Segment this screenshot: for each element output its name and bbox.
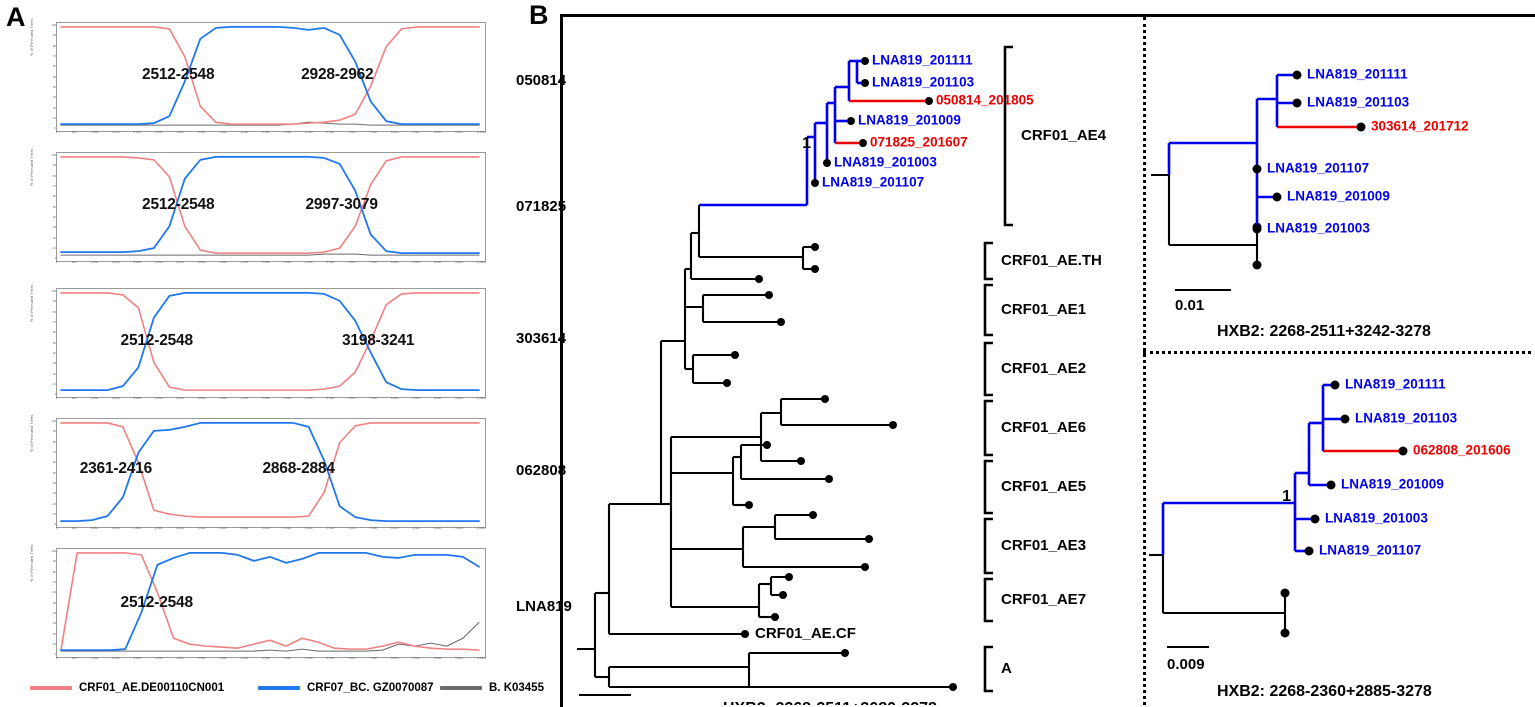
taxon-lna819-201009-bottomright: LNA819_201009 (1341, 477, 1444, 492)
bootscan-y-axis-label: % of Permuted Trees (30, 284, 34, 322)
x-tick: 1,0000 (477, 131, 486, 140)
x-tick: 4,500 (241, 261, 249, 270)
taxon-lna819-201009-topright: LNA819_201009 (1287, 189, 1390, 204)
x-tick: 8,500 (412, 131, 420, 140)
x-tick: 1,0000 (477, 261, 486, 270)
x-tick: 3,500 (198, 131, 206, 140)
x-tick: 9,500 (455, 527, 463, 536)
x-tick: 4,000 (219, 131, 227, 140)
x-tick: 7,000 (348, 657, 356, 666)
x-tick: 6,000 (305, 397, 313, 406)
x-tick: 1,500 (112, 397, 120, 406)
x-tick: 4,500 (241, 657, 249, 666)
x-tick: 5,000 (262, 131, 270, 140)
taxon-lna819-201107-main: LNA819_201107 (822, 175, 924, 190)
x-tick: 8,000 (391, 397, 399, 406)
x-tick: 6,000 (305, 527, 313, 536)
bootscan-x-ticks: 05001,0001,5002,0002,5003,0003,5004,0004… (56, 261, 486, 270)
x-tick: 0 (56, 131, 58, 140)
x-tick: 5,000 (262, 527, 270, 536)
bootscan-y-axis-label: % of Permuted Trees (30, 18, 34, 56)
bottom-right-scale-label: 0.009 (1167, 656, 1205, 673)
clade-label-a: A (1001, 660, 1012, 677)
x-tick: 4,000 (219, 397, 227, 406)
x-tick: 1,0000 (477, 527, 486, 536)
x-tick: 7,500 (369, 397, 377, 406)
x-tick: 500 (72, 397, 77, 406)
clade-label-crf01-ae7: CRF01_AE7 (1001, 591, 1086, 608)
x-tick: 1,500 (112, 131, 120, 140)
x-tick: 1,500 (112, 527, 120, 536)
x-tick: 7,000 (348, 131, 356, 140)
x-tick: 0 (56, 527, 58, 536)
breakpoint-label: 2512-2548 (142, 196, 214, 214)
sample-name-071825: 071825 (516, 198, 566, 215)
clade-label-crf01-ae1: CRF01_AE1 (1001, 301, 1086, 318)
x-tick: 2,000 (133, 397, 141, 406)
bootscan-y-ticks: 1009080706050403020100 (42, 550, 56, 656)
taxon-lna819-201103-topright: LNA819_201103 (1307, 95, 1410, 110)
legend-label: CRF07_BC. GZ0070087 (307, 682, 434, 694)
main-tree-node-support: 1 (802, 135, 811, 152)
x-tick: 1,0000 (477, 657, 486, 666)
taxon-050814-201805: 050814_201805 (936, 93, 1034, 108)
x-tick: 9,000 (434, 261, 442, 270)
x-tick: 6,500 (327, 261, 335, 270)
bootscan-plot-area (56, 152, 486, 262)
clade-label-crf01-ae3: CRF01_AE3 (1001, 537, 1086, 554)
panel-b-letter: B (529, 2, 549, 29)
bootscan-x-ticks: 05001,0001,5002,0002,5003,0003,5004,0004… (56, 527, 486, 536)
taxon-lna819-201107-topright: LNA819_201107 (1267, 161, 1369, 176)
x-tick: 1,500 (112, 261, 120, 270)
x-tick: 2,500 (155, 261, 163, 270)
bootscan-y-axis-label: % of Permuted Trees (30, 148, 34, 186)
x-tick: 2,000 (133, 131, 141, 140)
x-tick: 0 (56, 261, 58, 270)
bootscan-row-062808: % of Permuted Trees100908070605040302010… (34, 418, 486, 528)
x-tick: 1,0000 (477, 397, 486, 406)
x-tick: 2,000 (133, 261, 141, 270)
top-right-tree-svg: LNA819_201003 LNA819_201009 LNA819_20110… (1145, 17, 1535, 351)
x-tick: 5,500 (284, 527, 292, 536)
breakpoint-label: 2512-2548 (121, 594, 193, 612)
x-tick: 3,000 (176, 657, 184, 666)
x-tick: 8,000 (391, 657, 399, 666)
x-tick: 9,500 (455, 657, 463, 666)
x-tick: 0 (56, 657, 58, 666)
x-tick: 4,000 (219, 657, 227, 666)
bootscan-y-ticks: 1009080706050403020100 (42, 24, 56, 130)
x-tick: 4,500 (241, 131, 249, 140)
x-tick: 3,500 (198, 261, 206, 270)
clade-label-crf01-ae2: CRF01_AE2 (1001, 360, 1086, 377)
clade-label-crf01-ae4: CRF01_AE4 (1021, 127, 1107, 144)
bootscan-row-lna819: % of Permuted Trees100908070605040302010… (34, 548, 486, 658)
sample-name-lna819: LNA819 (516, 598, 572, 615)
x-tick: 3,500 (198, 657, 206, 666)
x-tick: 2,500 (155, 657, 163, 666)
x-tick: 3,500 (198, 397, 206, 406)
x-tick: 8,500 (412, 261, 420, 270)
x-tick: 7,500 (369, 261, 377, 270)
x-tick: 7,000 (348, 527, 356, 536)
x-tick: 3,000 (176, 131, 184, 140)
x-tick: 1,000 (91, 527, 99, 536)
bottom-right-region-label: HXB2: 2268-2360+2885-3278 (1217, 683, 1432, 700)
legend-swatch-crf01-ae-reference (30, 686, 72, 690)
top-right-region-label: HXB2: 2268-2511+3242-3278 (1217, 323, 1431, 340)
breakpoint-label: 2512-2548 (121, 332, 193, 350)
panel-a-bootscan-plots: % of Permuted Trees100908070605040302010… (0, 0, 520, 707)
breakpoint-label: 2928-2962 (301, 66, 373, 84)
taxon-lna819-201103-main: LNA819_201103 (872, 75, 975, 90)
main-tree-scale-label: 0.008 (579, 702, 617, 705)
legend-swatch-crf07-bc-reference (258, 686, 300, 690)
main-tree-region-label: HXB2: 2268-2511+3080-3278 (723, 700, 937, 705)
bootscan-y-ticks: 1009080706050403020100 (42, 290, 56, 396)
x-tick: 4,500 (241, 397, 249, 406)
bootscan-x-ticks: 05001,0001,5002,0002,5003,0003,5004,0004… (56, 397, 486, 406)
x-tick: 4,000 (219, 261, 227, 270)
x-tick: 8,500 (412, 527, 420, 536)
x-tick: 9,500 (455, 131, 463, 140)
bottom-right-node-support: 1 (1282, 488, 1291, 505)
bootscan-row-303614: % of Permuted Trees100908070605040302010… (34, 288, 486, 398)
taxon-303614-201712: 303614_201712 (1371, 119, 1469, 134)
x-tick: 1,000 (91, 261, 99, 270)
x-tick: 7,500 (369, 527, 377, 536)
x-tick: 5,500 (284, 657, 292, 666)
x-tick: 1,000 (91, 397, 99, 406)
x-tick: 9,000 (434, 131, 442, 140)
bootscan-y-ticks: 1009080706050403020100 (42, 154, 56, 260)
x-tick: 500 (72, 657, 77, 666)
x-tick: 5,000 (262, 397, 270, 406)
panel-b-trees: CRF01_AE.CF (560, 14, 1535, 707)
taxon-062808-201606: 062808_201606 (1413, 443, 1511, 458)
x-tick: 9,000 (434, 527, 442, 536)
x-tick: 500 (72, 131, 77, 140)
x-tick: 7,500 (369, 131, 377, 140)
taxon-lna819-201003-main: LNA819_201003 (834, 155, 937, 170)
bootscan-y-ticks: 1009080706050403020100 (42, 420, 56, 526)
x-tick: 9,500 (455, 261, 463, 270)
x-tick: 3,000 (176, 527, 184, 536)
clade-label-crf01-ae6: CRF01_AE6 (1001, 419, 1086, 436)
bootscan-plot-area (56, 22, 486, 132)
x-tick: 3,000 (176, 397, 184, 406)
main-tree-svg: CRF01_AE.CF (563, 17, 1143, 705)
x-tick: 6,000 (305, 657, 313, 666)
x-tick: 6,500 (327, 397, 335, 406)
x-tick: 1,000 (91, 657, 99, 666)
clade-label-crf01-ae-th: CRF01_AE.TH (1001, 252, 1102, 269)
panel-a-legend: CRF01_AE.DE00110CN001CRF07_BC. GZ0070087… (20, 678, 520, 700)
breakpoint-label: 2997-3079 (305, 196, 377, 214)
x-tick: 500 (72, 527, 77, 536)
figure-root: A % of Permuted Trees1009080706050403020… (0, 0, 1535, 707)
x-tick: 1,000 (91, 131, 99, 140)
legend-item-crf07-bc-reference: CRF07_BC. GZ0070087 (258, 682, 434, 694)
x-tick: 2,500 (155, 527, 163, 536)
taxon-lna819-201103-bottomright: LNA819_201103 (1355, 411, 1458, 426)
x-tick: 7,500 (369, 657, 377, 666)
bootscan-y-axis-label: % of Permuted Trees (30, 414, 34, 452)
x-tick: 6,000 (305, 261, 313, 270)
x-tick: 2,500 (155, 397, 163, 406)
legend-item-subtype-b-reference: B. K03455 (440, 682, 544, 694)
legend-swatch-subtype-b-reference (440, 686, 482, 690)
x-tick: 8,500 (412, 657, 420, 666)
taxon-lna819-201111-topright: LNA819_201111 (1307, 67, 1408, 82)
breakpoint-label: 2512-2548 (142, 66, 214, 84)
x-tick: 6,500 (327, 657, 335, 666)
bootscan-y-axis-label: % of Permuted Trees (30, 544, 34, 582)
x-tick: 2,000 (133, 657, 141, 666)
bottom-right-tree-svg: 1 LNA819_201107 LNA819_201003 LNA819_201… (1145, 355, 1535, 705)
bootscan-row-050814: % of Permuted Trees100908070605040302010… (34, 22, 486, 132)
taxon-lna819-201107-bottomright: LNA819_201107 (1319, 543, 1421, 558)
x-tick: 4,000 (219, 527, 227, 536)
breakpoint-label: 2361-2416 (80, 460, 152, 478)
x-tick: 8,000 (391, 261, 399, 270)
sample-name-062808: 062808 (516, 462, 566, 479)
x-tick: 3,500 (198, 527, 206, 536)
panel-b-horizontal-divider (1143, 351, 1535, 354)
breakpoint-label: 2868-2884 (262, 460, 334, 478)
x-tick: 9,000 (434, 397, 442, 406)
x-tick: 500 (72, 261, 77, 270)
x-tick: 5,500 (284, 131, 292, 140)
legend-label: CRF01_AE.DE00110CN001 (79, 682, 224, 694)
x-tick: 9,500 (455, 397, 463, 406)
x-tick: 2,000 (133, 527, 141, 536)
x-tick: 5,000 (262, 657, 270, 666)
x-tick: 8,000 (391, 131, 399, 140)
legend-label: B. K03455 (489, 682, 544, 694)
x-tick: 7,000 (348, 261, 356, 270)
taxon-lna819-201009-main: LNA819_201009 (858, 113, 961, 128)
x-tick: 3,000 (176, 261, 184, 270)
x-tick: 5,500 (284, 397, 292, 406)
bootscan-x-ticks: 05001,0001,5002,0002,5003,0003,5004,0004… (56, 131, 486, 140)
x-tick: 6,000 (305, 131, 313, 140)
bootscan-row-071825: % of Permuted Trees100908070605040302010… (34, 152, 486, 262)
x-tick: 5,500 (284, 261, 292, 270)
taxon-071825-201607: 071825_201607 (870, 135, 968, 150)
x-tick: 9,000 (434, 657, 442, 666)
sample-name-050814: 050814 (516, 72, 566, 89)
inline-taxon-crf01-ae-cf: CRF01_AE.CF (755, 625, 856, 642)
taxon-lna819-201003-bottomright: LNA819_201003 (1325, 511, 1428, 526)
taxon-lna819-201111-bottomright: LNA819_201111 (1345, 377, 1446, 392)
x-tick: 6,500 (327, 527, 335, 536)
x-tick: 8,000 (391, 527, 399, 536)
x-tick: 5,000 (262, 261, 270, 270)
taxon-lna819-201003-topright: LNA819_201003 (1267, 221, 1370, 236)
x-tick: 6,500 (327, 131, 335, 140)
bootscan-x-ticks: 05001,0001,5002,0002,5003,0003,5004,0004… (56, 657, 486, 666)
x-tick: 4,500 (241, 527, 249, 536)
x-tick: 8,500 (412, 397, 420, 406)
x-tick: 7,000 (348, 397, 356, 406)
x-tick: 1,500 (112, 657, 120, 666)
breakpoint-label: 3198-3241 (342, 332, 414, 350)
x-tick: 2,500 (155, 131, 163, 140)
sample-name-303614: 303614 (516, 330, 566, 347)
x-tick: 0 (56, 397, 58, 406)
legend-item-crf01-ae-reference: CRF01_AE.DE00110CN001 (30, 682, 224, 694)
clade-label-crf01-ae5: CRF01_AE5 (1001, 478, 1086, 495)
taxon-lna819-201111-main: LNA819_201111 (872, 53, 973, 68)
top-right-scale-label: 0.01 (1175, 297, 1204, 314)
